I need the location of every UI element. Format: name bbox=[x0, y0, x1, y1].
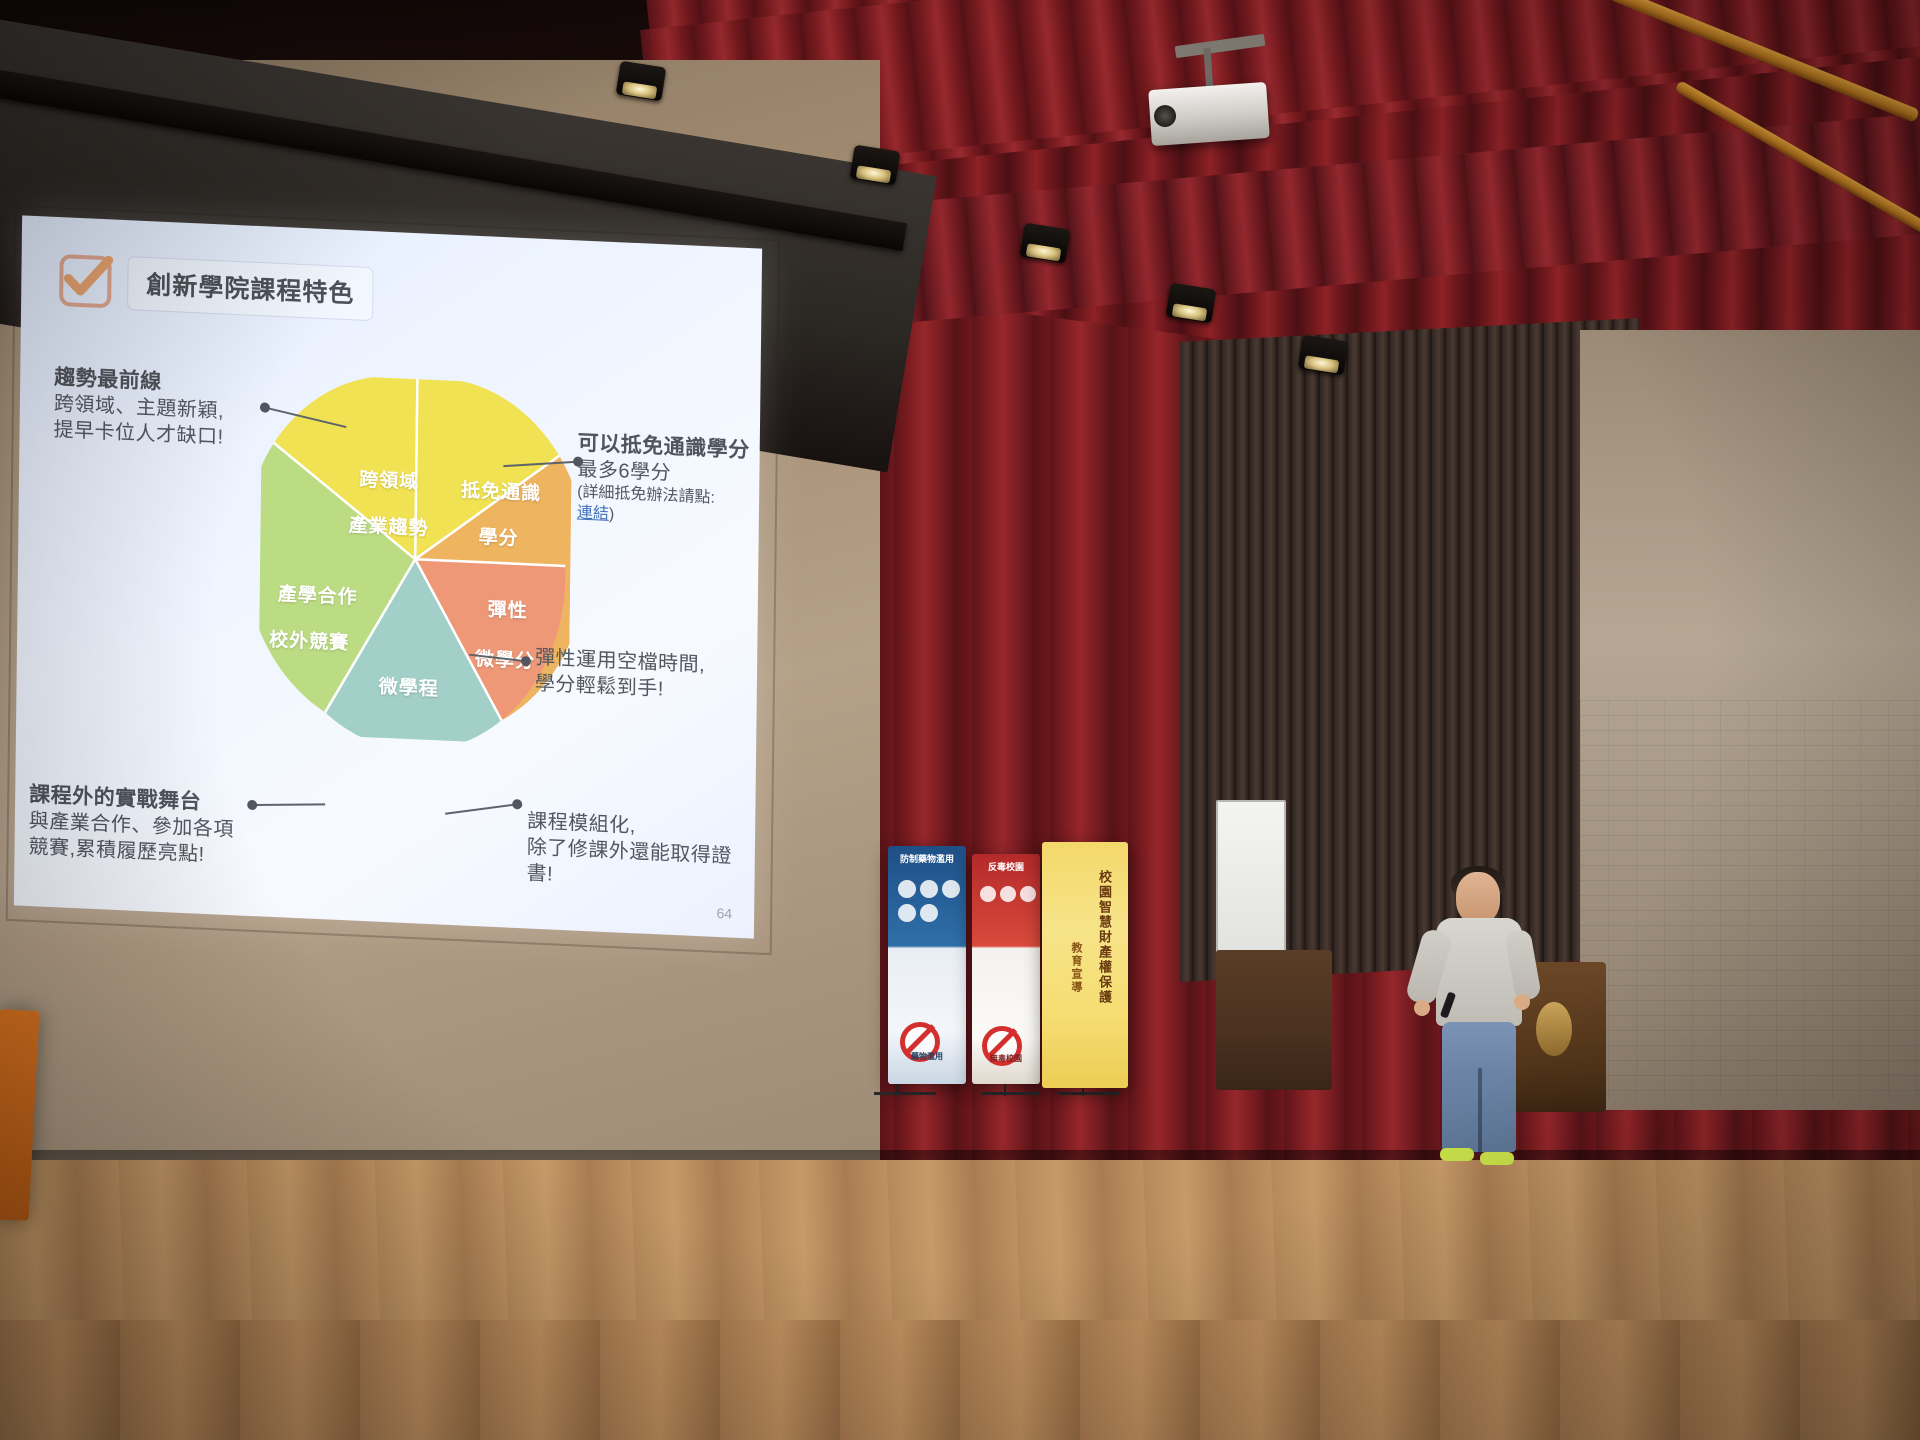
banner-1-icon-1 bbox=[898, 880, 916, 898]
annotation-top-right: 可以抵免通識學分 最多6學分 (詳細抵免辦法請點: 連結) bbox=[577, 430, 768, 532]
banner-1-icon-2 bbox=[920, 880, 938, 898]
spotlight-4 bbox=[1166, 283, 1217, 324]
spotlight-1 bbox=[616, 61, 667, 102]
annotation-bottom-left: 課程外的實戰舞台 與產業合作、參加各項 競賽,累積履歷亮點! bbox=[28, 782, 279, 872]
banner-1-headline: 防制藥物濫用 bbox=[888, 852, 966, 865]
drug-abuse-prevention-banner: 防制藥物濫用 藥物濫用 bbox=[888, 846, 966, 1084]
back-wall-texture bbox=[1580, 700, 1920, 1100]
auditorium-photo: 創新學院課程特色 bbox=[0, 0, 1920, 1440]
banner-3-headline: 校園智慧財產權保護 bbox=[1095, 870, 1114, 1066]
presentation-slide: 創新學院課程特色 bbox=[14, 215, 762, 938]
pie-label-4-line1: 產學合作 bbox=[278, 579, 358, 610]
presenter-right-hand bbox=[1514, 994, 1530, 1010]
spotlight-5 bbox=[1298, 335, 1349, 376]
stage-apron bbox=[0, 1320, 1920, 1440]
spotlight-3 bbox=[1020, 223, 1071, 264]
pie-label-2-line1: 彈性 bbox=[488, 595, 528, 624]
presenter-left-hand bbox=[1414, 1000, 1430, 1016]
checkbox-check-icon bbox=[59, 254, 112, 308]
banner-foot-2 bbox=[982, 1092, 1040, 1095]
campus-ip-protection-banner: 校園智慧財產權保護 教育宣導 bbox=[1042, 842, 1128, 1088]
banner-2-icon-1 bbox=[980, 886, 996, 902]
banner-2-icon-3 bbox=[1020, 886, 1036, 902]
leader-line-bottom-left bbox=[251, 803, 325, 806]
presenter-right-shoe bbox=[1480, 1152, 1514, 1165]
pie-label-3-line1: 微學程 bbox=[379, 672, 439, 702]
banner-2-icon-2 bbox=[1000, 886, 1016, 902]
projection-screen: 創新學院課程特色 bbox=[14, 215, 762, 938]
annotation-middle-right: 彈性運用空檔時間, 學分輕鬆到手! bbox=[535, 645, 726, 706]
banner-1-icon-3 bbox=[942, 880, 960, 898]
anti-drug-campus-banner: 反毒校園 無毒校園 bbox=[972, 854, 1040, 1084]
projector-lens bbox=[1153, 104, 1176, 127]
annotation-bottom-right-line2: 除了修課外還能取得證書! bbox=[526, 834, 747, 896]
pie-label-1-line2: 學分 bbox=[478, 522, 518, 551]
banner-2-headline: 反毒校園 bbox=[972, 860, 1040, 873]
annotation-bottom-right: 課程模組化, 除了修課外還能取得證書! bbox=[526, 808, 747, 896]
pie-chart: 跨領域 產業趨勢 抵免通識 學分 彈性 微學分 微學程 產學合作 校外競賽 bbox=[258, 372, 572, 746]
slide-title-box: 創新學院課程特色 bbox=[127, 256, 374, 321]
banner-2-footer: 無毒校園 bbox=[972, 1053, 1040, 1064]
banner-1-footer: 藥物濫用 bbox=[888, 1051, 966, 1062]
ceiling-projector bbox=[1148, 82, 1270, 146]
banner-1-icon-5 bbox=[920, 904, 938, 922]
spotlight-2 bbox=[850, 145, 901, 186]
banner-foot-1 bbox=[874, 1092, 936, 1095]
presenter-head bbox=[1456, 872, 1500, 924]
leader-line-bottom-right bbox=[445, 803, 518, 815]
pie-label-1-line1: 抵免通識 bbox=[461, 475, 541, 506]
annotation-top-right-line3: ) bbox=[609, 506, 615, 523]
slide-page-number: 64 bbox=[716, 905, 732, 922]
banner-foot-3 bbox=[1058, 1092, 1120, 1095]
presenter bbox=[1418, 872, 1538, 1182]
pie-label-0-line2: 產業趨勢 bbox=[348, 510, 428, 541]
reimbursement-rules-link[interactable]: 連結 bbox=[577, 505, 609, 523]
banner-3-subtitle: 教育宣導 bbox=[1068, 942, 1084, 1022]
whiteboard bbox=[1216, 800, 1286, 954]
annotation-top-left: 趨勢最前線 跨領域、主題新穎, 提早卡位人才缺口! bbox=[53, 365, 284, 454]
slide-header: 創新學院課程特色 bbox=[59, 253, 374, 321]
page-title: 創新學院課程特色 bbox=[146, 265, 354, 310]
banner-1-icon-4 bbox=[898, 904, 916, 922]
presenter-left-shoe bbox=[1440, 1148, 1474, 1161]
pie-label-0-line1: 跨領域 bbox=[359, 465, 419, 495]
presenter-leg-gap bbox=[1478, 1068, 1482, 1154]
pie-label-4-line2: 校外競賽 bbox=[269, 625, 349, 656]
av-cabinet bbox=[1216, 950, 1332, 1090]
